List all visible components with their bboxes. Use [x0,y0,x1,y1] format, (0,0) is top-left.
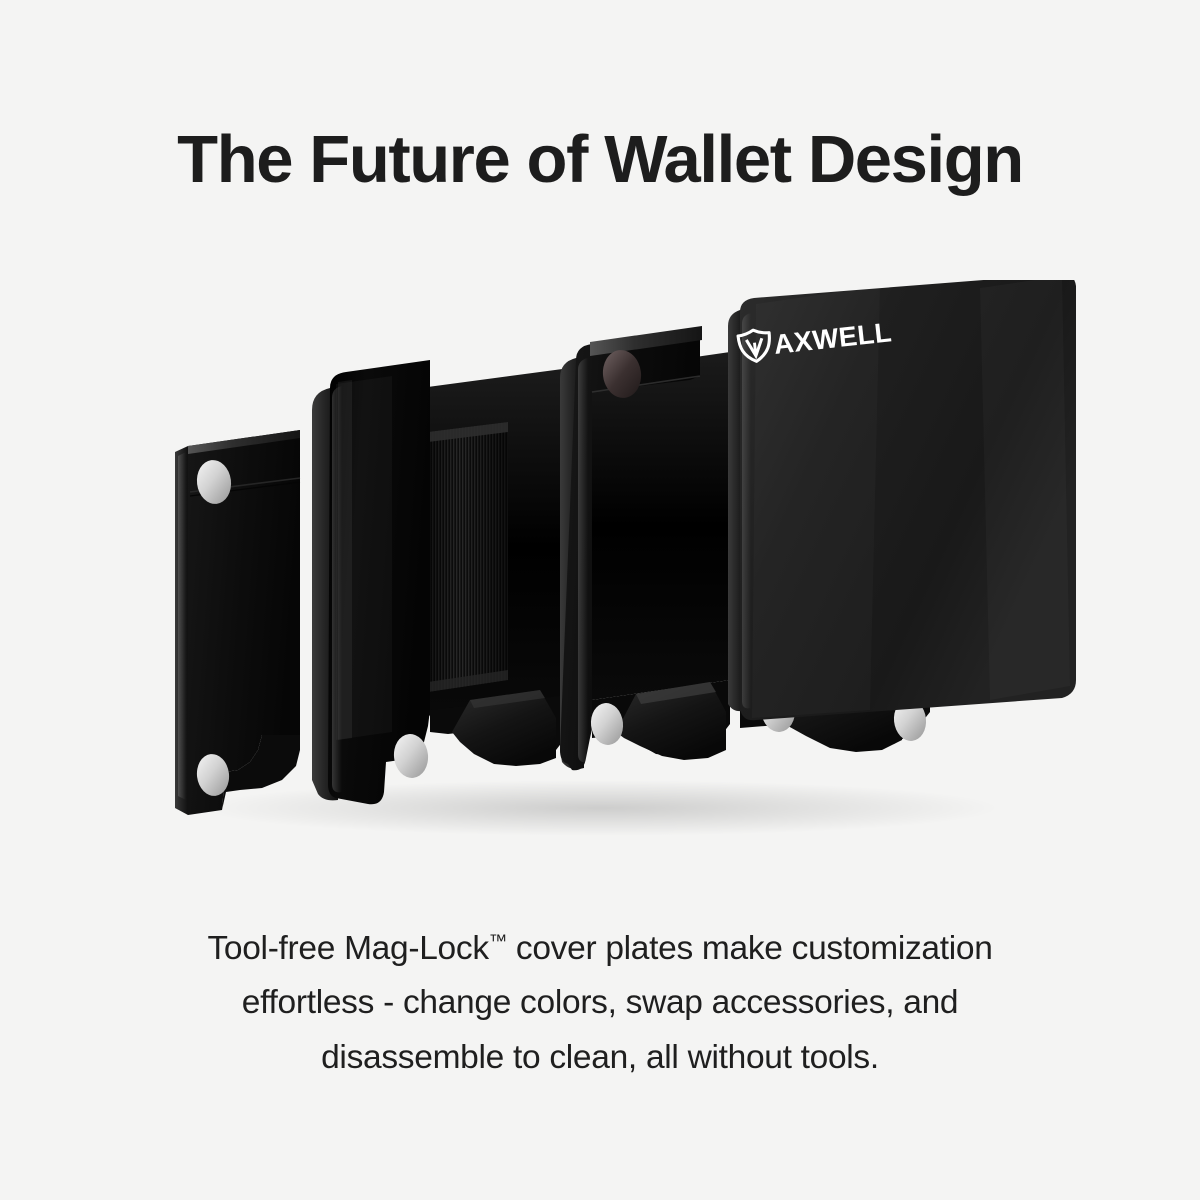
caption-line-1: Tool-free Mag-Lock™ cover plates make cu… [80,922,1120,976]
wallet-plate-back [175,430,300,815]
exploded-wallet-illustration: AXWELL [0,280,1200,860]
page-title: The Future of Wallet Design [0,124,1200,196]
product-description: Tool-free Mag-Lock™ cover plates make cu… [80,922,1120,1085]
product-image: AXWELL [0,280,1200,860]
trademark-symbol: ™ [489,930,507,951]
caption-line-2: effortless - change colors, swap accesso… [80,976,1120,1030]
caption-line-3: disassemble to clean, all without tools. [80,1031,1120,1085]
wallet-plate-card-cage [312,360,570,804]
caption-line-1-a: Tool-free Mag-Lock [207,930,488,967]
caption-line-1-b: cover plates make customization [507,930,993,967]
wallet-plate-front-cover: AXWELL [728,280,1076,752]
elastic-strap [428,422,508,692]
wallet-plate-middle-cover [560,326,730,770]
